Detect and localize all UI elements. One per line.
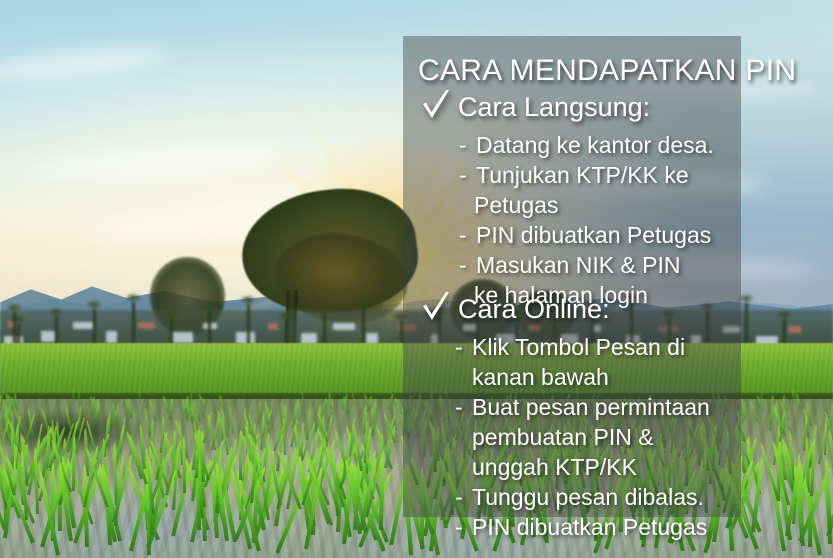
village-roof <box>268 323 278 330</box>
list-item-continuation: kanan bawah <box>403 362 763 392</box>
list-item-text: PIN dibuatkan Petugas <box>459 220 711 250</box>
list-item-text: PIN dibuatkan Petugas <box>455 512 707 542</box>
section-item-list: - Datang ke kantor desa. - Tunjukan KTP/… <box>403 130 763 310</box>
rice-blade <box>321 397 327 417</box>
rice-blade <box>229 406 234 434</box>
list-item: - Klik Tombol Pesan di <box>403 332 763 362</box>
village-roof <box>171 332 193 343</box>
list-item: - Tunggu pesan dibalas. <box>403 482 763 512</box>
list-item: - Tunjukan KTP/KK ke <box>403 160 763 190</box>
section-item-list: - Klik Tombol Pesan di kanan bawah - Bua… <box>403 332 763 542</box>
section-heading-row: Cara Langsung: <box>403 92 763 128</box>
palm-tree <box>93 309 96 346</box>
rice-blade <box>149 400 157 421</box>
poster-text-content: CARA MENDAPATKAN PIN Cara Langsung: - Da… <box>403 36 763 526</box>
rice-blade <box>169 398 173 419</box>
village-roof <box>236 332 255 343</box>
list-item-continuation: pembuatan PIN & <box>403 422 763 452</box>
check-icon <box>421 88 451 122</box>
rice-blade <box>825 458 832 534</box>
list-dash: - <box>455 332 463 362</box>
palm-crown <box>240 295 256 304</box>
list-item-text: Masukan NIK & PIN <box>459 250 681 280</box>
palm-crown <box>163 309 179 318</box>
palm-tree <box>13 312 16 346</box>
palm-tree <box>323 313 326 347</box>
palm-tree <box>55 316 58 346</box>
list-item-text: Tunggu pesan dibalas. <box>455 482 704 512</box>
rice-blade <box>96 399 98 421</box>
palm-tree <box>247 304 250 347</box>
palm-crown <box>776 310 792 319</box>
palm-crown <box>278 311 294 320</box>
palm-tree <box>362 306 365 347</box>
palm-crown <box>48 307 64 316</box>
check-icon <box>421 290 451 324</box>
palm-crown <box>355 297 371 306</box>
list-item-continuation: Petugas <box>403 190 763 220</box>
section-title: Cara Langsung: <box>458 92 650 123</box>
palm-crown <box>201 302 217 311</box>
list-item-text: Buat pesan permintaan <box>455 392 710 422</box>
palm-crown <box>10 315 26 324</box>
list-dash: - <box>459 130 467 160</box>
list-item: - PIN dibuatkan Petugas <box>403 220 763 250</box>
section-heading-row: Cara Online: <box>403 294 763 330</box>
list-dash: - <box>459 250 467 280</box>
palm-crown <box>6 303 22 312</box>
list-item-text: Datang ke kantor desa. <box>459 130 714 160</box>
rice-blade <box>182 437 186 493</box>
section-cara-online: Cara Online: - Klik Tombol Pesan di kana… <box>403 294 763 542</box>
list-item-continuation: unggah KTP/KK <box>403 452 763 482</box>
rice-blade <box>379 456 384 530</box>
rice-blade <box>72 390 74 403</box>
page-title: CARA MENDAPATKAN PIN <box>418 54 796 88</box>
list-dash: - <box>455 482 463 512</box>
palm-crown <box>125 293 141 302</box>
rice-blade <box>297 399 299 420</box>
list-dash: - <box>459 220 467 250</box>
list-dash: - <box>459 160 467 190</box>
rice-blade <box>65 407 73 435</box>
section-title: Cara Online: <box>458 294 610 325</box>
village-roof <box>41 331 55 342</box>
palm-tree <box>208 311 211 347</box>
list-dash: - <box>455 512 463 542</box>
section-cara-langsung: Cara Langsung: - Datang ke kantor desa. … <box>403 92 763 310</box>
poster-image: CARA MENDAPATKAN PIN Cara Langsung: - Da… <box>0 0 833 558</box>
village-roof <box>73 322 93 329</box>
list-item: - Buat pesan permintaan <box>403 392 763 422</box>
rice-blade <box>257 401 261 424</box>
list-dash: - <box>455 392 463 422</box>
rice-blade <box>239 430 242 480</box>
palm-tree <box>132 302 135 346</box>
list-item-text: Tunjukan KTP/KK ke <box>459 160 689 190</box>
list-item-text: Klik Tombol Pesan di <box>455 332 685 362</box>
rice-blade <box>783 406 793 433</box>
village-roof <box>788 326 801 333</box>
village-roof <box>106 331 117 342</box>
list-item: - Masukan NIK & PIN <box>403 250 763 280</box>
village-roof <box>138 322 155 329</box>
village-roof <box>333 323 355 330</box>
list-item: - Datang ke kantor desa. <box>403 130 763 160</box>
list-item: - PIN dibuatkan Petugas <box>403 512 763 542</box>
palm-crown <box>316 304 332 313</box>
